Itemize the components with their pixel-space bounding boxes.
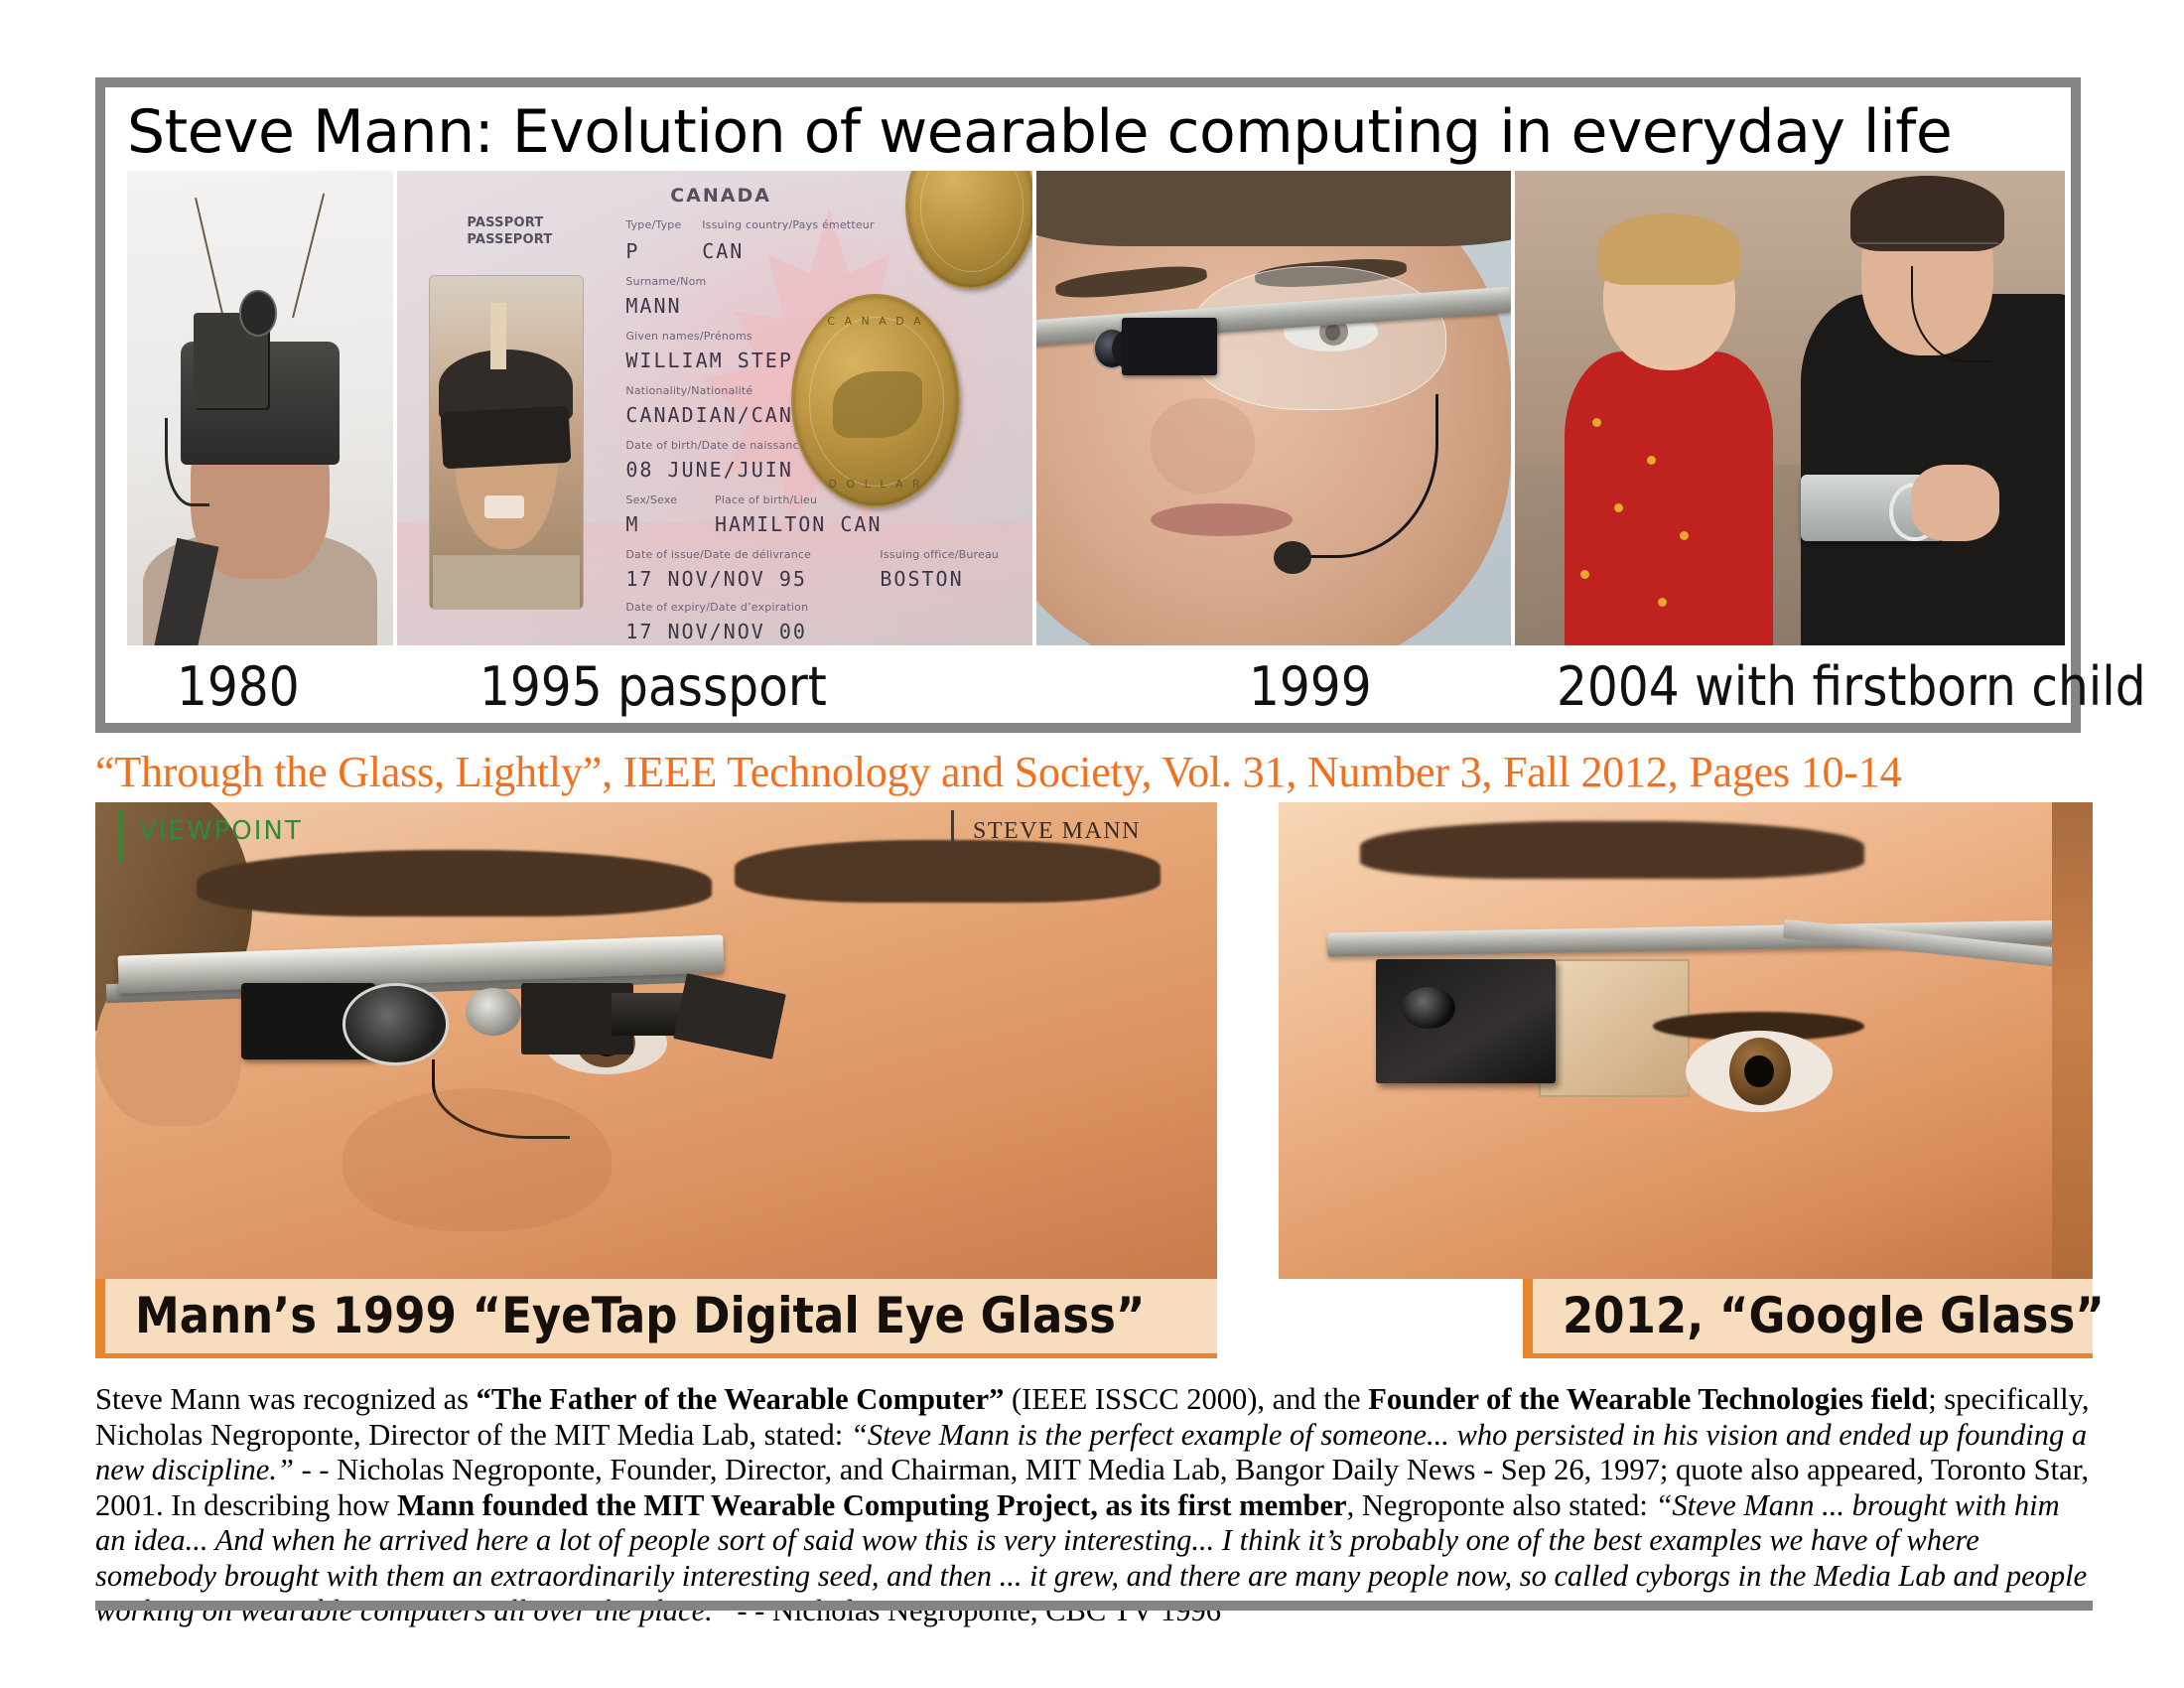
page-title: Steve Mann: Evolution of wearable comput… [127,93,2065,171]
caption-2004-firstborn: 2004 with firstborn child [1557,649,2146,725]
comparison-photo-row: VIEWPOINT STEVE MANN Wikimedia Commons [95,802,2093,1279]
photo-eyetap-1999-closeup: VIEWPOINT STEVE MANN [95,802,1217,1279]
photo-1980-headmount-rig [127,171,393,645]
passport-field-label-5: Date of birth/Date de naissance [625,439,805,452]
passport-doc-label-en: PASSPORT [467,215,543,230]
image-credit: Wikimedia Commons [2089,1228,2093,1279]
body-segment-2: (IEEE ISSCC 2000), and the [1004,1382,1368,1416]
eyeglasses-icon [1855,242,1998,268]
passport-field-label-7: Place of birth/Lieu [715,493,817,506]
passport-portrait-photo [429,275,584,610]
timeline-photo-strip: CANADA PASSPORT PASSEPORT Type/Type Issu… [127,171,2065,645]
passport-doc-label-fr: PASSEPORT [467,232,552,247]
body-segment-7: Mann founded the MIT Wearable Computing … [397,1488,1346,1522]
passport-field-value-5: 08 JUNE/JUIN [625,458,793,482]
timeline-caption-row: 1980 1995 passport 1999 2004 with firstb… [127,649,2065,725]
google-glass-body [1376,959,1555,1083]
caption-bar-google-glass: 2012, “Google Glass” [1523,1279,2093,1358]
passport-field-value-4: CANADIAN/CAN [625,403,793,427]
article-citation: “Through the Glass, Lightly”, IEEE Techn… [95,747,2093,798]
viewpoint-label: VIEWPOINT [139,816,303,846]
coin-word-top: C A N A D A [793,315,958,328]
passport-field-label-2: Surname/Nom [625,275,706,288]
eyetap-visor [1188,266,1446,410]
body-segment-10: - - Nicholas Negroponte, CBC TV 1996 [730,1594,1221,1627]
caption-1980: 1980 [177,649,300,725]
passport-field-value-9: BOSTON [880,567,963,591]
caption-bar-gap [1217,1279,1523,1358]
caption-google-glass-text: 2012, “Google Glass” [1533,1279,2093,1352]
viewpoint-divider [119,810,122,862]
body-segment-8: , Negroponte also stated: [1347,1488,1656,1522]
canadian-dollar-coin: C A N A D A D O L L A R [791,294,960,506]
body-paragraph: Steve Mann was recognized as “The Father… [95,1382,2095,1629]
passport-field-label-0: Type/Type [625,218,681,231]
loon-icon [833,371,922,438]
bottom-divider [95,1601,2093,1611]
passport-country-header: CANADA [670,185,771,207]
timeline-panel: Steve Mann: Evolution of wearable comput… [95,77,2081,733]
caption-1995-passport: 1995 passport [479,649,827,725]
photo-google-glass-2012: Wikimedia Commons [1279,802,2093,1279]
body-segment-0: Steve Mann was recognized as [95,1382,477,1416]
passport-field-value-3: WILLIAM STEP [625,349,793,372]
passport-field-value-2: MANN [625,294,681,318]
caption-1999: 1999 [1249,649,1372,725]
passport-field-value-1: CAN [702,239,744,263]
passport-field-label-6: Sex/Sexe [625,493,677,506]
passport-field-value-7: HAMILTON CAN [715,512,883,536]
caption-eyetap-text: Mann’s 1999 “EyeTap Digital Eye Glass” [105,1279,1217,1352]
caption-bar-eyetap: Mann’s 1999 “EyeTap Digital Eye Glass” [95,1279,1217,1358]
passport-field-label-9: Issuing office/Bureau [880,548,999,561]
camera-lens-icon [1402,987,1455,1029]
passport-field-label-1: Issuing country/Pays émetteur [702,218,875,231]
author-label: STEVE MANN [973,818,1141,845]
eyetap-camera-module [1122,318,1217,374]
passport-field-label-3: Given names/Prénoms [625,330,751,343]
passport-field-value-6: M [625,512,639,536]
passport-field-value-10: 17 NOV/NOV 00 [625,620,807,643]
passport-field-label-4: Nationality/Nationalité [625,384,752,397]
body-segment-1: “The Father of the Wearable Computer” [477,1382,1005,1416]
passport-field-value-0: P [625,239,639,263]
photo-1999-eyetap-worn [1036,171,1511,645]
passport-field-label-10: Date of expiry/Date d’expiration [625,601,808,614]
camera-lens-icon [239,290,278,337]
photo-1995-canadian-passport: CANADA PASSPORT PASSEPORT Type/Type Issu… [397,171,1032,645]
passport-field-label-8: Date of issue/Date de délivrance [625,548,811,561]
body-segment-3: Founder of the Wearable Technologies fie… [1368,1382,1928,1416]
author-divider [951,810,954,858]
passport-field-value-8: 17 NOV/NOV 95 [625,567,807,591]
camera-lens-icon [342,983,450,1065]
photo-2004-with-child [1515,171,2065,645]
coin-word-bottom: D O L L A R [793,478,958,491]
